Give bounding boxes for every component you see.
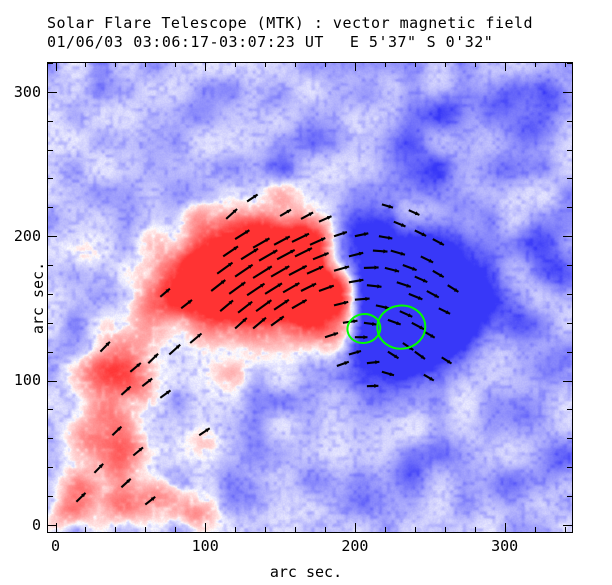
y-minor-tick xyxy=(48,265,53,266)
y-minor-tick xyxy=(48,352,53,353)
x-axis-label: arc sec. xyxy=(0,563,612,581)
x-minor-tick xyxy=(145,527,146,532)
observation-time-range: 03:06:17-03:07:23 xyxy=(133,33,295,51)
y-minor-tick xyxy=(48,467,53,468)
y-minor-tick xyxy=(48,150,53,151)
x-tick-top xyxy=(565,62,566,67)
x-minor-tick xyxy=(265,527,266,532)
y-tick-right xyxy=(567,63,572,64)
x-tick-top xyxy=(145,62,146,67)
x-minor-tick xyxy=(295,527,296,532)
y-minor-tick xyxy=(48,438,53,439)
figure-title: Solar Flare Telescope (MTK) : vector mag… xyxy=(47,14,533,32)
figure-subtitle: 01/06/0303:06:17-03:07:23 UTE 5'37"S 0'3… xyxy=(47,33,493,51)
magnetogram-figure: Solar Flare Telescope (MTK) : vector mag… xyxy=(0,0,612,585)
field-vector-arrowhead xyxy=(363,335,367,339)
magnetogram-plot-area xyxy=(47,62,573,533)
y-tick-right xyxy=(567,150,572,151)
x-minor-tick xyxy=(445,527,446,532)
y-tick-right xyxy=(563,381,572,382)
x-tick-top xyxy=(235,62,236,67)
time-unit: UT xyxy=(305,33,324,51)
x-major-tick xyxy=(355,523,356,532)
y-tick-right xyxy=(567,323,572,324)
y-minor-tick xyxy=(48,121,53,122)
x-minor-tick xyxy=(565,527,566,532)
observation-date: 01/06/03 xyxy=(47,33,123,51)
y-minor-tick xyxy=(48,496,53,497)
y-tick-right xyxy=(567,265,572,266)
y-tick-right xyxy=(563,236,572,237)
y-tick-right xyxy=(567,294,572,295)
field-vector-arrowhead xyxy=(383,249,387,253)
x-minor-tick xyxy=(385,527,386,532)
x-minor-tick xyxy=(415,527,416,532)
x-tick-label: 100 xyxy=(192,537,219,555)
y-tick-label: 100 xyxy=(0,371,41,389)
x-minor-tick xyxy=(475,527,476,532)
y-minor-tick xyxy=(48,63,53,64)
x-minor-tick xyxy=(85,527,86,532)
x-major-tick xyxy=(205,523,206,532)
x-tick-top xyxy=(295,62,296,67)
x-minor-tick xyxy=(535,527,536,532)
y-major-tick xyxy=(48,525,57,526)
y-tick-right xyxy=(563,525,572,526)
y-major-tick xyxy=(48,236,57,237)
y-tick-label: 200 xyxy=(0,227,41,245)
y-tick-right xyxy=(567,409,572,410)
y-minor-tick xyxy=(48,323,53,324)
field-vector-arrowhead xyxy=(374,384,378,388)
y-axis-label: arc sec. xyxy=(29,262,47,334)
x-tick-top xyxy=(445,62,446,67)
x-tick-label: 0 xyxy=(51,537,60,555)
x-tick-top xyxy=(265,62,266,67)
x-minor-tick xyxy=(115,527,116,532)
y-tick-right xyxy=(567,121,572,122)
y-tick-right xyxy=(567,352,572,353)
x-minor-tick xyxy=(325,527,326,532)
y-minor-tick xyxy=(48,207,53,208)
x-tick-top xyxy=(355,62,356,71)
y-tick-right xyxy=(567,467,572,468)
coordinate-ns: S 0'32" xyxy=(427,33,494,51)
x-minor-tick xyxy=(235,527,236,532)
x-tick-top xyxy=(115,62,116,67)
field-vector-arrowhead xyxy=(374,266,378,270)
y-tick-right xyxy=(567,496,572,497)
y-tick-label: 300 xyxy=(0,83,41,101)
coordinate-ew: E 5'37" xyxy=(350,33,417,51)
x-tick-top xyxy=(56,62,57,71)
y-tick-right xyxy=(567,178,572,179)
y-major-tick xyxy=(48,381,57,382)
x-minor-tick xyxy=(175,527,176,532)
x-tick-top xyxy=(415,62,416,67)
x-tick-top xyxy=(175,62,176,67)
x-tick-top xyxy=(505,62,506,71)
x-tick-top xyxy=(385,62,386,67)
x-tick-top xyxy=(325,62,326,67)
x-tick-top xyxy=(535,62,536,67)
x-tick-label: 300 xyxy=(491,537,518,555)
x-major-tick xyxy=(505,523,506,532)
x-tick-label: 200 xyxy=(341,537,368,555)
x-tick-top xyxy=(475,62,476,67)
y-minor-tick xyxy=(48,409,53,410)
y-tick-label: 0 xyxy=(0,516,41,534)
y-tick-right xyxy=(567,438,572,439)
y-tick-right xyxy=(567,207,572,208)
vector-field-overlay xyxy=(48,63,572,532)
field-vector-arrowhead xyxy=(365,297,369,301)
x-tick-top xyxy=(205,62,206,71)
x-tick-top xyxy=(85,62,86,67)
y-tick-right xyxy=(563,92,572,93)
y-minor-tick xyxy=(48,178,53,179)
y-major-tick xyxy=(48,92,57,93)
y-minor-tick xyxy=(48,294,53,295)
